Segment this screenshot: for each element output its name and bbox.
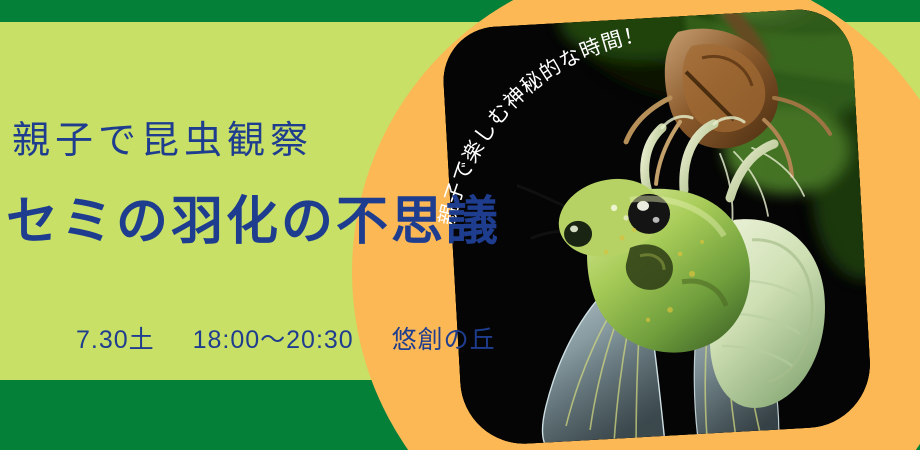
event-date: 7.30土 [76,326,155,354]
event-details: 7.30土 18:00〜20:30 悠創の丘 [76,328,496,353]
poster-canvas: 親子で楽しむ神秘的な時間！ 親子で昆虫観察 セミの羽化の不思議 7.30土 18… [0,0,920,450]
event-venue: 悠創の丘 [392,326,496,354]
headline-title: セミの羽化の不思議 [6,196,501,248]
cicada-illustration [441,7,874,447]
event-time: 18:00〜20:30 [193,326,354,354]
cicada-photo [441,7,874,447]
cicada-photo-image [441,7,874,447]
headline-lead: 親子で昆虫観察 [12,122,313,160]
